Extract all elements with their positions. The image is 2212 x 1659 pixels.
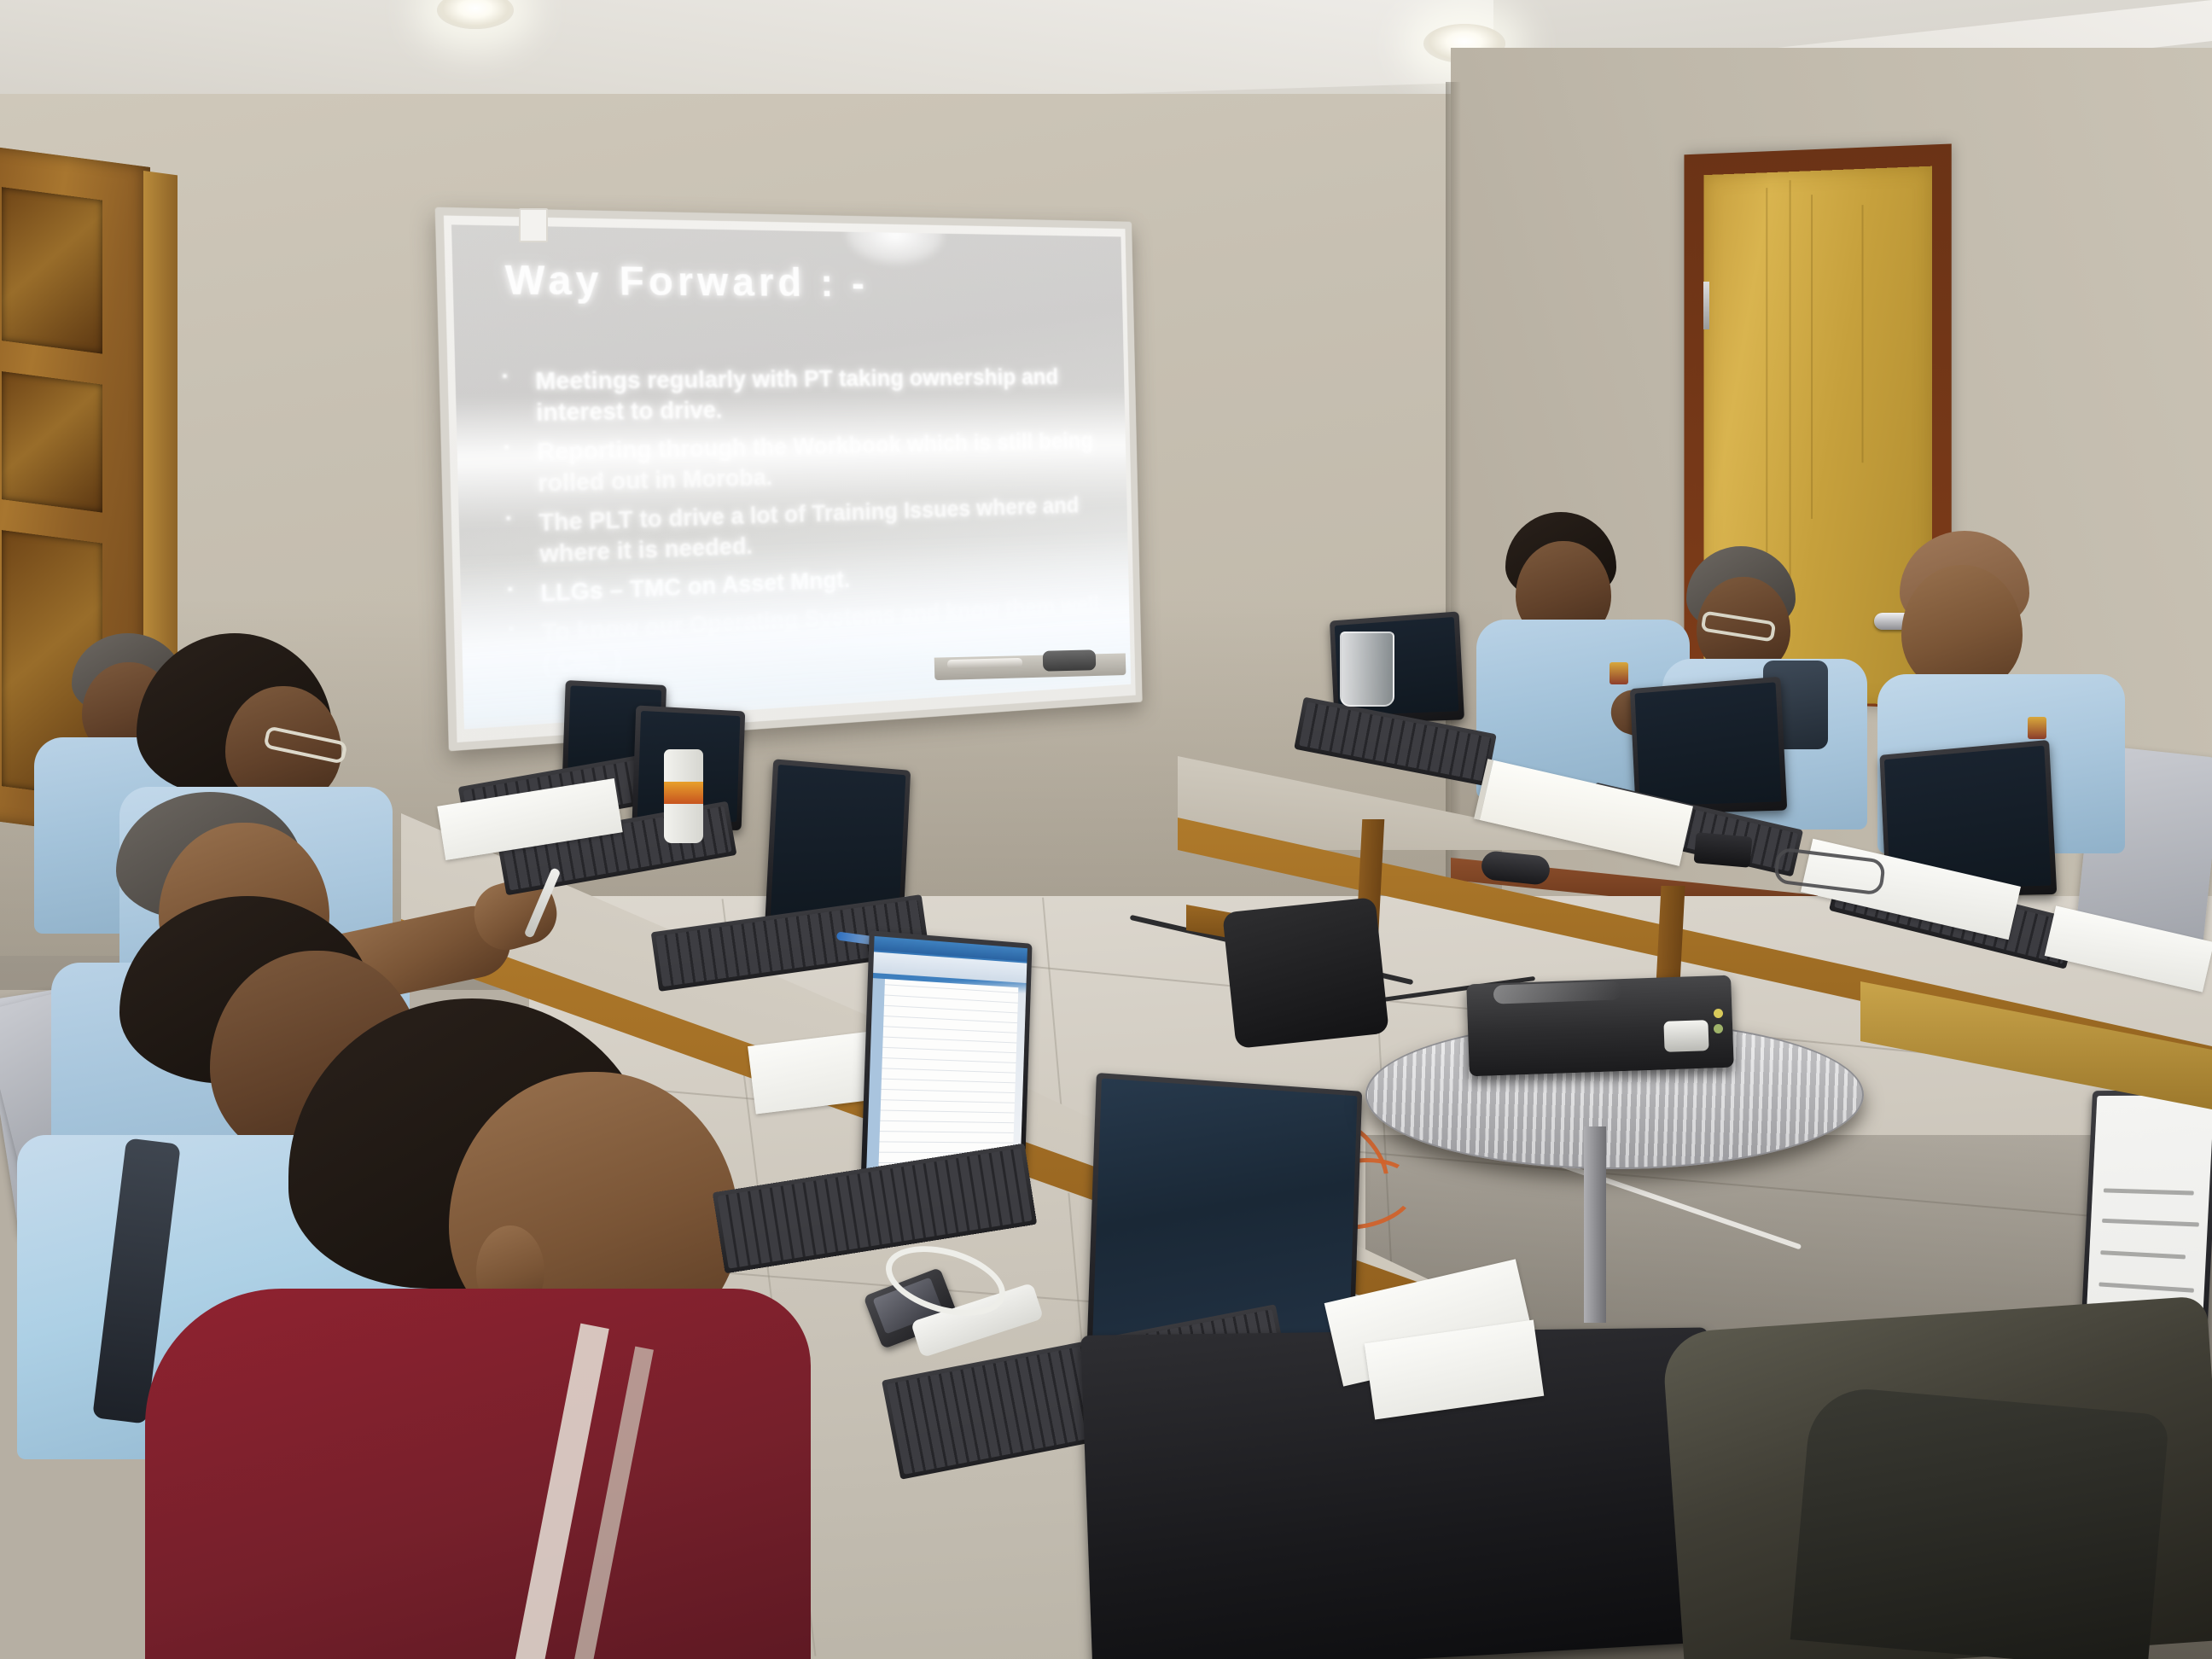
door-right-hinge [1703,282,1709,329]
laptop-screen-spreadsheet [866,936,1027,1182]
projector-lens [1663,1020,1708,1052]
jacket-on-floor-2 [1790,1384,2170,1659]
participant-foreground-maroon [145,998,845,1659]
water-bottle-label [664,782,703,804]
projected-slide: Way Forward : - Meetings regularly with … [451,224,1131,729]
shirt-badge [2028,717,2046,739]
round-table-stem [1584,1126,1606,1323]
classroom-photo-scene: Way Forward : - Meetings regularly with … [0,0,2212,1659]
projector-status-led [1714,1024,1723,1033]
laptop-back-mid[interactable] [1630,677,1787,815]
laptop-screen [771,765,906,920]
door-left-panel-mid [2,371,102,513]
whiteboard-eraser[interactable] [1043,649,1097,672]
spreadsheet-grid [878,979,1018,1173]
shirt-badge [1610,662,1628,684]
whiteboard-top-clip [519,208,548,242]
door-left-panel-top [2,187,102,354]
projector-status-led [1714,1009,1723,1018]
presenter-remote[interactable] [1694,832,1753,868]
whiteboard-marker[interactable] [947,658,1022,669]
slide-title: Way Forward : - [504,256,869,306]
bag-on-floor [1222,897,1389,1049]
torso [145,1289,811,1659]
water-glass[interactable] [1340,632,1394,707]
laptop-screen [1634,682,1781,806]
